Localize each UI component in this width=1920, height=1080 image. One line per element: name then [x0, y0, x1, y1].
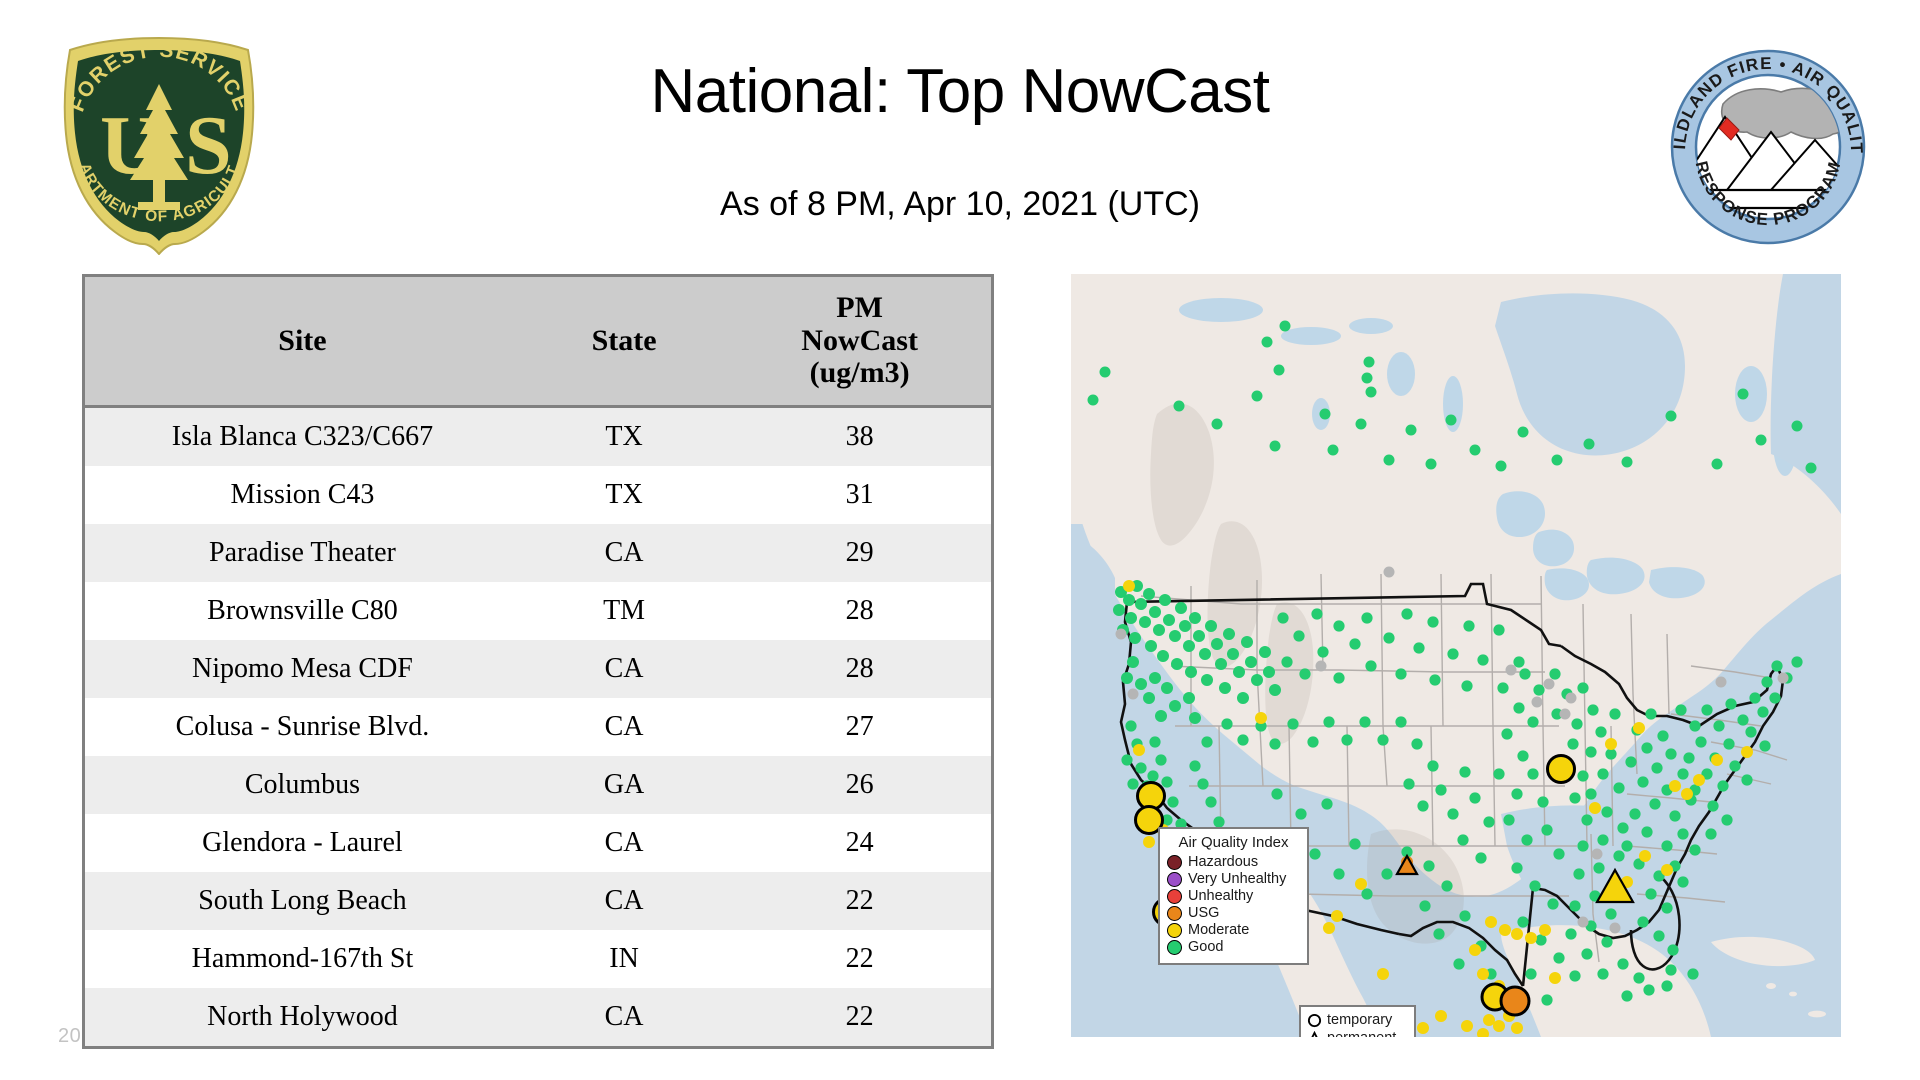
- column-header-state: State: [520, 277, 728, 407]
- cell-site: Paradise Theater: [85, 524, 520, 582]
- aqi-legend-row: Moderate: [1167, 922, 1300, 939]
- site-type-legend: temporary permanent: [1299, 1005, 1416, 1037]
- cell-pm-nowcast: 26: [728, 756, 991, 814]
- cell-state: CA: [520, 988, 728, 1046]
- site-type-label-permanent: permanent: [1327, 1029, 1396, 1037]
- aqi-swatch-icon: [1167, 940, 1182, 955]
- cell-site: Isla Blanca C323/C667: [85, 407, 520, 467]
- aqi-legend-row: Good: [1167, 939, 1300, 956]
- site-type-legend-row-temporary: temporary: [1307, 1011, 1408, 1029]
- table-header-row: Site State PM NowCast (ug/m3): [85, 277, 991, 407]
- cell-state: CA: [520, 814, 728, 872]
- table-row: North HolywoodCA22: [85, 988, 991, 1046]
- cell-site: Hammond-167th St: [85, 930, 520, 988]
- cell-pm-nowcast: 31: [728, 466, 991, 524]
- cell-site: North Holywood: [85, 988, 520, 1046]
- cell-pm-nowcast: 28: [728, 582, 991, 640]
- table-row: Colusa - Sunrise Blvd.CA27: [85, 698, 991, 756]
- page-subtitle: As of 8 PM, Apr 10, 2021 (UTC): [0, 185, 1920, 224]
- cell-site: Mission C43: [85, 466, 520, 524]
- cell-site: Nipomo Mesa CDF: [85, 640, 520, 698]
- top-nowcast-table-container: Site State PM NowCast (ug/m3) Isla Blanc…: [82, 274, 994, 1049]
- aqi-legend-label: Moderate: [1188, 922, 1249, 939]
- table-row: Paradise TheaterCA29: [85, 524, 991, 582]
- aqi-swatch-icon: [1167, 906, 1182, 921]
- table-row: Glendora - LaurelCA24: [85, 814, 991, 872]
- cell-pm-nowcast: 22: [728, 930, 991, 988]
- aqi-legend-row: Very Unhealthy: [1167, 871, 1300, 888]
- highlighted-site-hammond: [1548, 756, 1575, 783]
- cell-pm-nowcast: 27: [728, 698, 991, 756]
- table-body: Isla Blanca C323/C667TX38Mission C43TX31…: [85, 407, 991, 1047]
- cell-site: Brownsville C80: [85, 582, 520, 640]
- aqi-swatch-icon: [1167, 855, 1182, 870]
- cell-state: CA: [520, 872, 728, 930]
- cell-state: TX: [520, 407, 728, 467]
- column-header-pm-line3: (ug/m3): [732, 357, 987, 389]
- aqi-legend-row: Hazardous: [1167, 854, 1300, 871]
- site-type-label-temporary: temporary: [1327, 1011, 1392, 1029]
- cell-state: CA: [520, 524, 728, 582]
- cell-state: CA: [520, 640, 728, 698]
- circle-outline-icon: [1307, 1013, 1322, 1028]
- site-type-legend-row-permanent: permanent: [1307, 1029, 1408, 1037]
- cell-pm-nowcast: 22: [728, 872, 991, 930]
- us-forest-service-logo: FOREST SERVICE U S DEPARTMENT OF AGRICUL…: [52, 30, 267, 255]
- top-nowcast-table: Site State PM NowCast (ug/m3) Isla Blanc…: [85, 277, 991, 1046]
- cell-pm-nowcast: 29: [728, 524, 991, 582]
- aqi-legend-row: USG: [1167, 905, 1300, 922]
- aqi-legend-label: Unhealthy: [1188, 888, 1253, 905]
- aqi-legend: Air Quality Index HazardousVery Unhealth…: [1158, 827, 1309, 965]
- aqi-swatch-icon: [1167, 923, 1182, 938]
- cell-site: Colusa - Sunrise Blvd.: [85, 698, 520, 756]
- cell-site: Glendora - Laurel: [85, 814, 520, 872]
- page-title: National: Top NowCast: [0, 56, 1920, 127]
- table-row: South Long BeachCA22: [85, 872, 991, 930]
- aqi-legend-label: Good: [1188, 939, 1223, 956]
- cell-pm-nowcast: 24: [728, 814, 991, 872]
- aqi-legend-rows: HazardousVery UnhealthyUnhealthyUSGModer…: [1167, 854, 1300, 956]
- cell-state: TM: [520, 582, 728, 640]
- cell-state: IN: [520, 930, 728, 988]
- cell-site: Columbus: [85, 756, 520, 814]
- cell-site: South Long Beach: [85, 872, 520, 930]
- air-quality-map[interactable]: Air Quality Index HazardousVery Unhealth…: [1071, 274, 1841, 1037]
- aqi-legend-row: Unhealthy: [1167, 888, 1300, 905]
- triangle-outline-icon: [1307, 1031, 1322, 1038]
- table-row: Nipomo Mesa CDFCA28: [85, 640, 991, 698]
- aqi-legend-label: Hazardous: [1188, 854, 1258, 871]
- cell-pm-nowcast: 38: [728, 407, 991, 467]
- cell-state: CA: [520, 698, 728, 756]
- column-header-pm-line2: NowCast: [732, 325, 987, 357]
- aqi-legend-title: Air Quality Index: [1167, 834, 1300, 851]
- column-header-pm-nowcast: PM NowCast (ug/m3): [728, 277, 991, 407]
- table-row: Mission C43TX31: [85, 466, 991, 524]
- column-header-pm-line1: PM: [732, 292, 987, 324]
- wfaqrp-logo: WILDLAND FIRE • AIR QUALITY RESPONSE PRO…: [1663, 42, 1873, 252]
- aqi-legend-label: USG: [1188, 905, 1219, 922]
- highlighted-site-isla-blanca: [1501, 987, 1529, 1015]
- table-row: ColumbusGA26: [85, 756, 991, 814]
- table-row: Hammond-167th StIN22: [85, 930, 991, 988]
- aqi-swatch-icon: [1167, 872, 1182, 887]
- cell-state: GA: [520, 756, 728, 814]
- aqi-swatch-icon: [1167, 889, 1182, 904]
- aqi-legend-label: Very Unhealthy: [1188, 871, 1286, 888]
- cell-pm-nowcast: 22: [728, 988, 991, 1046]
- table-row: Brownsville C80TM28: [85, 582, 991, 640]
- cell-state: TX: [520, 466, 728, 524]
- cell-pm-nowcast: 28: [728, 640, 991, 698]
- column-header-site: Site: [85, 277, 520, 407]
- table-row: Isla Blanca C323/C667TX38: [85, 407, 991, 467]
